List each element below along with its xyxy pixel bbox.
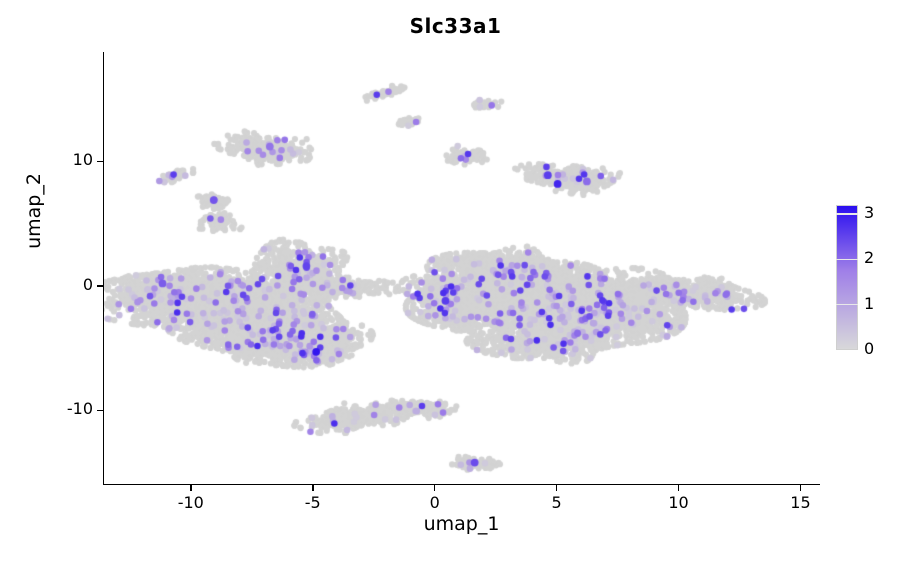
x-tick-label: 0 (405, 493, 465, 512)
x-tick-label: -10 (161, 493, 221, 512)
colorbar (836, 205, 858, 350)
y-tick-mark (97, 285, 103, 287)
x-tick-label: 10 (649, 493, 709, 512)
y-tick-mark (97, 410, 103, 412)
umap-feature-plot: Slc33a1 -10-5051015 100-10 umap_1 umap_2… (0, 0, 911, 562)
x-tick-label: 5 (527, 493, 587, 512)
x-tick-mark (312, 485, 314, 491)
colorbar-gradient (837, 206, 857, 349)
x-tick-mark (678, 485, 680, 491)
colorbar-tick-label: 1 (864, 294, 898, 313)
y-axis-label: umap_2 (23, 111, 45, 311)
x-tick-mark (556, 485, 558, 491)
x-tick-label: -5 (283, 493, 343, 512)
page-title: Slc33a1 (0, 14, 911, 38)
colorbar-tick-label: 2 (864, 248, 898, 267)
plot-area (103, 52, 820, 485)
colorbar-tick-label: 0 (864, 339, 898, 358)
x-axis-label: umap_1 (103, 513, 820, 535)
scatter-canvas (104, 52, 821, 485)
x-tick-mark (190, 485, 192, 491)
x-tick-label: 15 (770, 493, 830, 512)
y-tick-mark (97, 161, 103, 163)
x-tick-mark (800, 485, 802, 491)
x-tick-mark (434, 485, 436, 491)
colorbar-tick-mark (836, 259, 858, 260)
colorbar-tick-mark (836, 304, 858, 305)
y-tick-label: -10 (31, 399, 93, 418)
colorbar-tick-mark (836, 213, 858, 214)
colorbar-tick-label: 3 (864, 203, 898, 222)
